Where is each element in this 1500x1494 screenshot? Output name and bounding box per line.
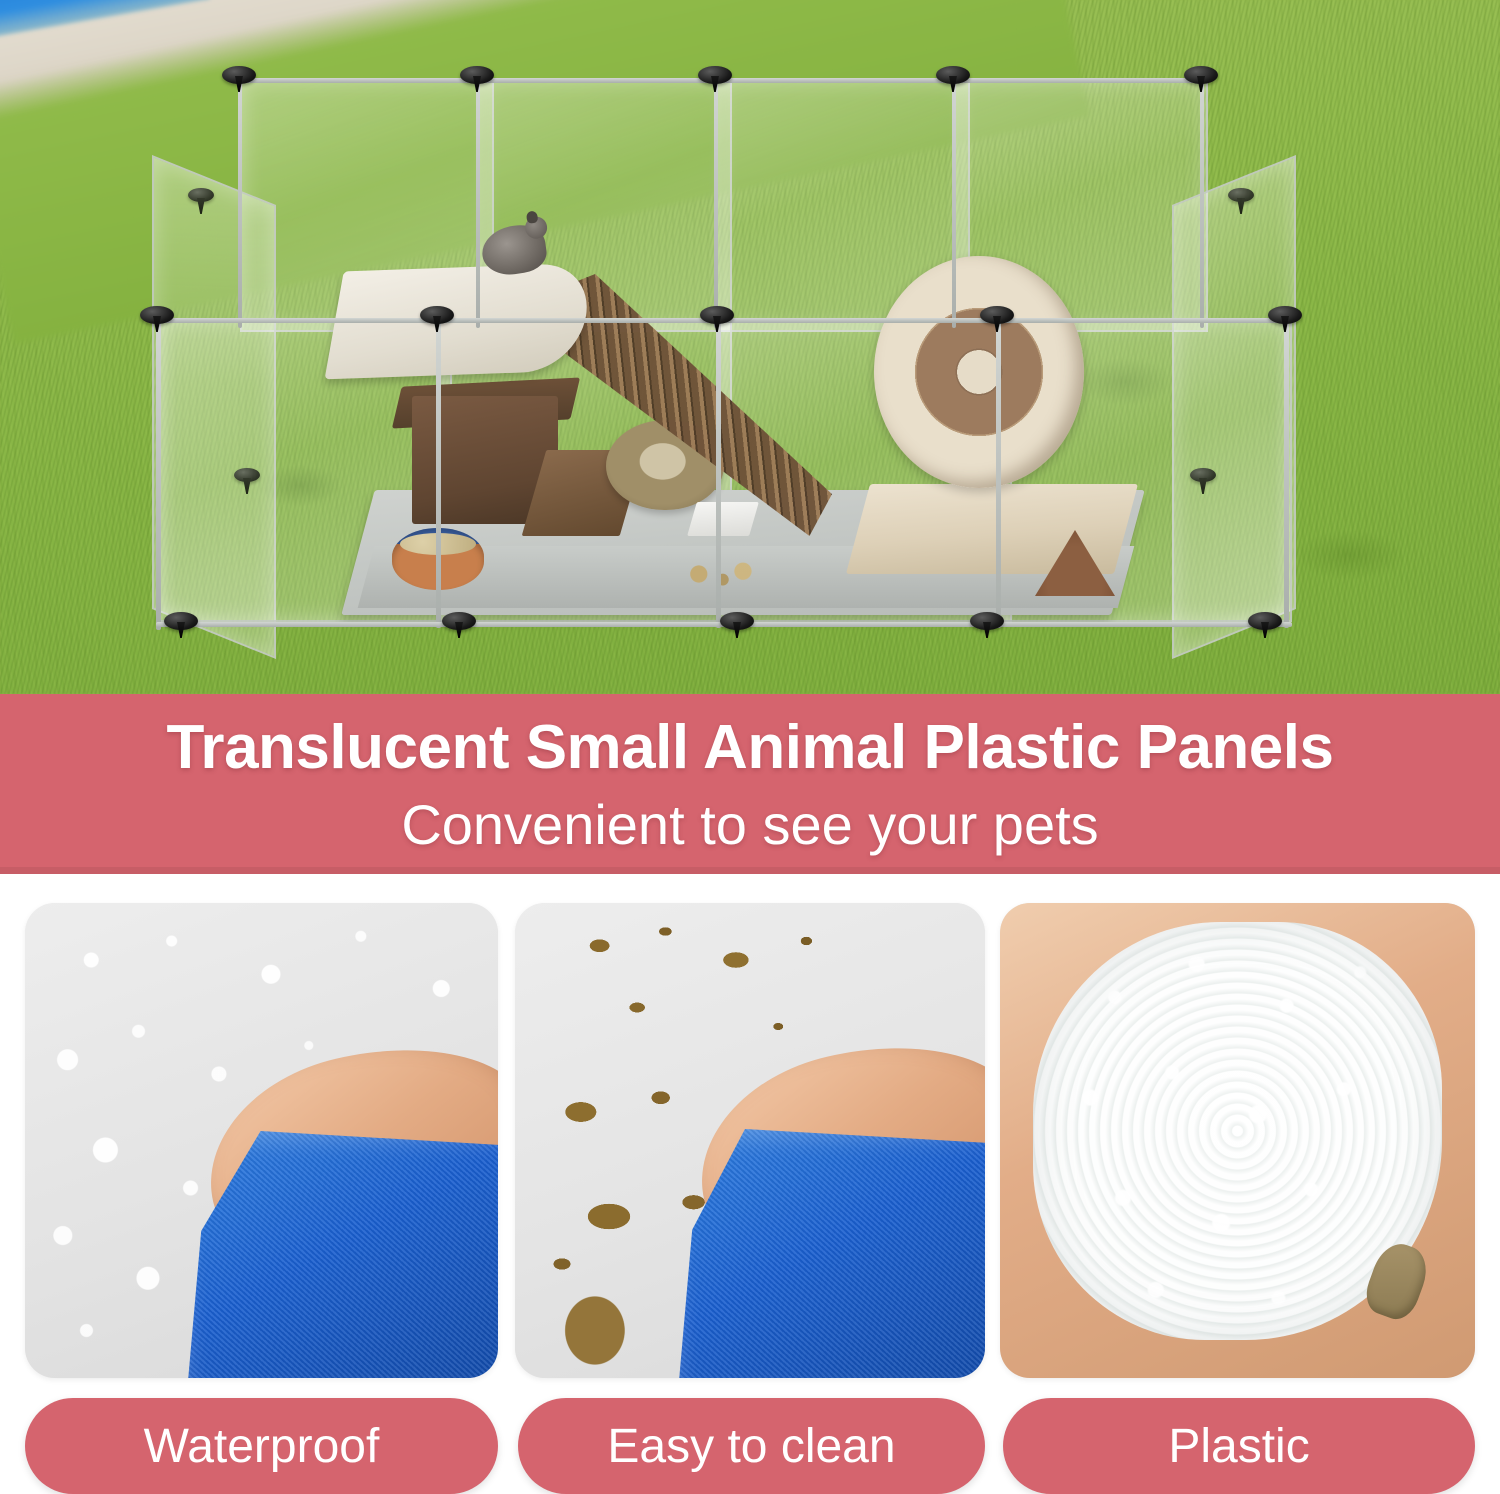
hero-product-photo <box>0 0 1500 694</box>
support-bar-back-5 <box>1200 78 1204 328</box>
salt-lick-block <box>687 502 759 536</box>
connector-clip-front-2 <box>420 306 454 324</box>
support-bar-back-1 <box>238 78 242 328</box>
connector-clip-front-3 <box>700 306 734 324</box>
connector-clip-front-1 <box>140 306 174 324</box>
feature-label-waterproof: Waterproof <box>25 1398 498 1494</box>
connector-clip-bottom-4 <box>970 612 1004 630</box>
support-bar-1 <box>156 320 161 630</box>
wheel-platform <box>846 484 1138 574</box>
banner-subtitle: Convenient to see your pets <box>0 792 1500 857</box>
connector-clip-back-4 <box>936 66 970 84</box>
connector-clip-side-right-low <box>1190 468 1216 482</box>
support-bar-2 <box>436 318 441 628</box>
connector-clip-side-left-low <box>234 468 260 482</box>
connector-clip-side-right <box>1228 188 1254 202</box>
connector-clip-back-1 <box>222 66 256 84</box>
support-bar-5 <box>1284 318 1289 628</box>
connector-clip-bottom-2 <box>442 612 476 630</box>
support-bar-back-3 <box>714 78 718 328</box>
connector-clip-back-2 <box>460 66 494 84</box>
feature-label-easy-to-clean: Easy to clean <box>518 1398 985 1494</box>
support-bar-3 <box>716 318 721 628</box>
support-bar-back-2 <box>476 78 480 328</box>
connector-clip-bottom-1 <box>164 612 198 630</box>
product-infographic: Translucent Small Animal Plastic Panels … <box>0 0 1500 1486</box>
headline-banner: Translucent Small Animal Plastic Panels … <box>0 694 1500 874</box>
plastic-pen-product <box>130 60 1330 660</box>
support-bar-4 <box>996 318 1001 628</box>
wooden-exercise-wheel <box>874 256 1084 488</box>
connector-clip-bottom-3 <box>720 612 754 630</box>
connector-clip-bottom-5 <box>1248 612 1282 630</box>
connector-clip-back-3 <box>698 66 732 84</box>
banner-title: Translucent Small Animal Plastic Panels <box>0 712 1500 783</box>
feature-image-plastic <box>1000 903 1475 1378</box>
feature-image-waterproof <box>25 903 498 1378</box>
connector-clip-side-left <box>188 188 214 202</box>
connector-clip-front-5 <box>1268 306 1302 324</box>
connector-clip-front-4 <box>980 306 1014 324</box>
feature-image-easy-to-clean <box>515 903 985 1378</box>
support-bar-back-4 <box>952 78 956 328</box>
banner-bottom-strip <box>0 867 1500 874</box>
feature-label-plastic: Plastic <box>1003 1398 1475 1494</box>
connector-clip-back-5 <box>1184 66 1218 84</box>
